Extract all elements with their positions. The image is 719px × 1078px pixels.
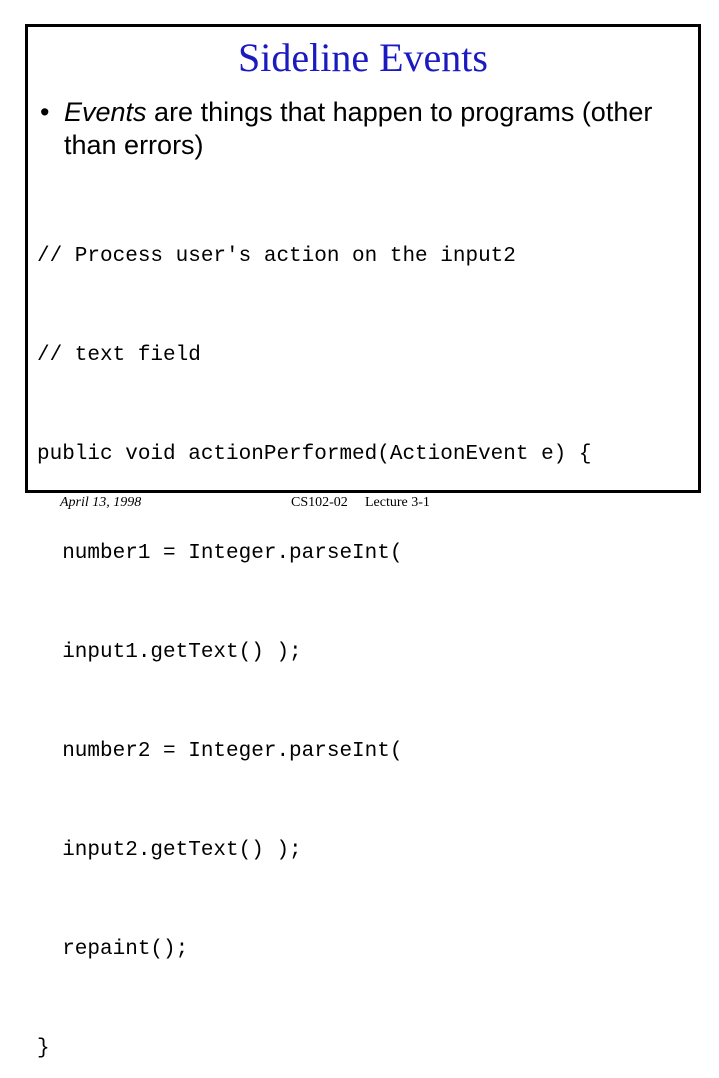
footer-lecture-number: Lecture 3-1 bbox=[365, 494, 430, 512]
code-line: public void actionPerformed(ActionEvent … bbox=[37, 438, 692, 471]
bullet-item: • Events are things that happen to progr… bbox=[40, 96, 690, 162]
presentation-slide: Sideline Events • Events are things that… bbox=[0, 0, 719, 539]
footer-date: April 13, 1998 bbox=[60, 494, 141, 512]
code-line: // Process user's action on the input2 bbox=[37, 240, 692, 273]
code-line: // text field bbox=[37, 339, 692, 372]
code-listing: // Process user's action on the input2 /… bbox=[37, 174, 692, 1078]
bullet-remainder-text: are things that happen to programs (othe… bbox=[64, 97, 652, 160]
bullet-marker-icon: • bbox=[40, 96, 64, 129]
slide-footer: April 13, 1998 CS102-02 Lecture 3-1 bbox=[0, 494, 719, 514]
code-line: input1.getText() ); bbox=[37, 636, 692, 669]
slide-border-frame: Sideline Events • Events are things that… bbox=[25, 24, 701, 493]
code-line: input2.getText() ); bbox=[37, 834, 692, 867]
footer-course-code: CS102-02 bbox=[291, 494, 348, 512]
bullet-item-text: Events are things that happen to program… bbox=[64, 96, 690, 162]
code-line: number2 = Integer.parseInt( bbox=[37, 735, 692, 768]
bullet-list: • Events are things that happen to progr… bbox=[40, 96, 690, 162]
code-line: } bbox=[37, 1032, 692, 1065]
code-line: number1 = Integer.parseInt( bbox=[37, 537, 692, 570]
slide-title: Sideline Events bbox=[28, 35, 698, 81]
bullet-emphasis-term: Events bbox=[64, 97, 147, 127]
code-line: repaint(); bbox=[37, 933, 692, 966]
